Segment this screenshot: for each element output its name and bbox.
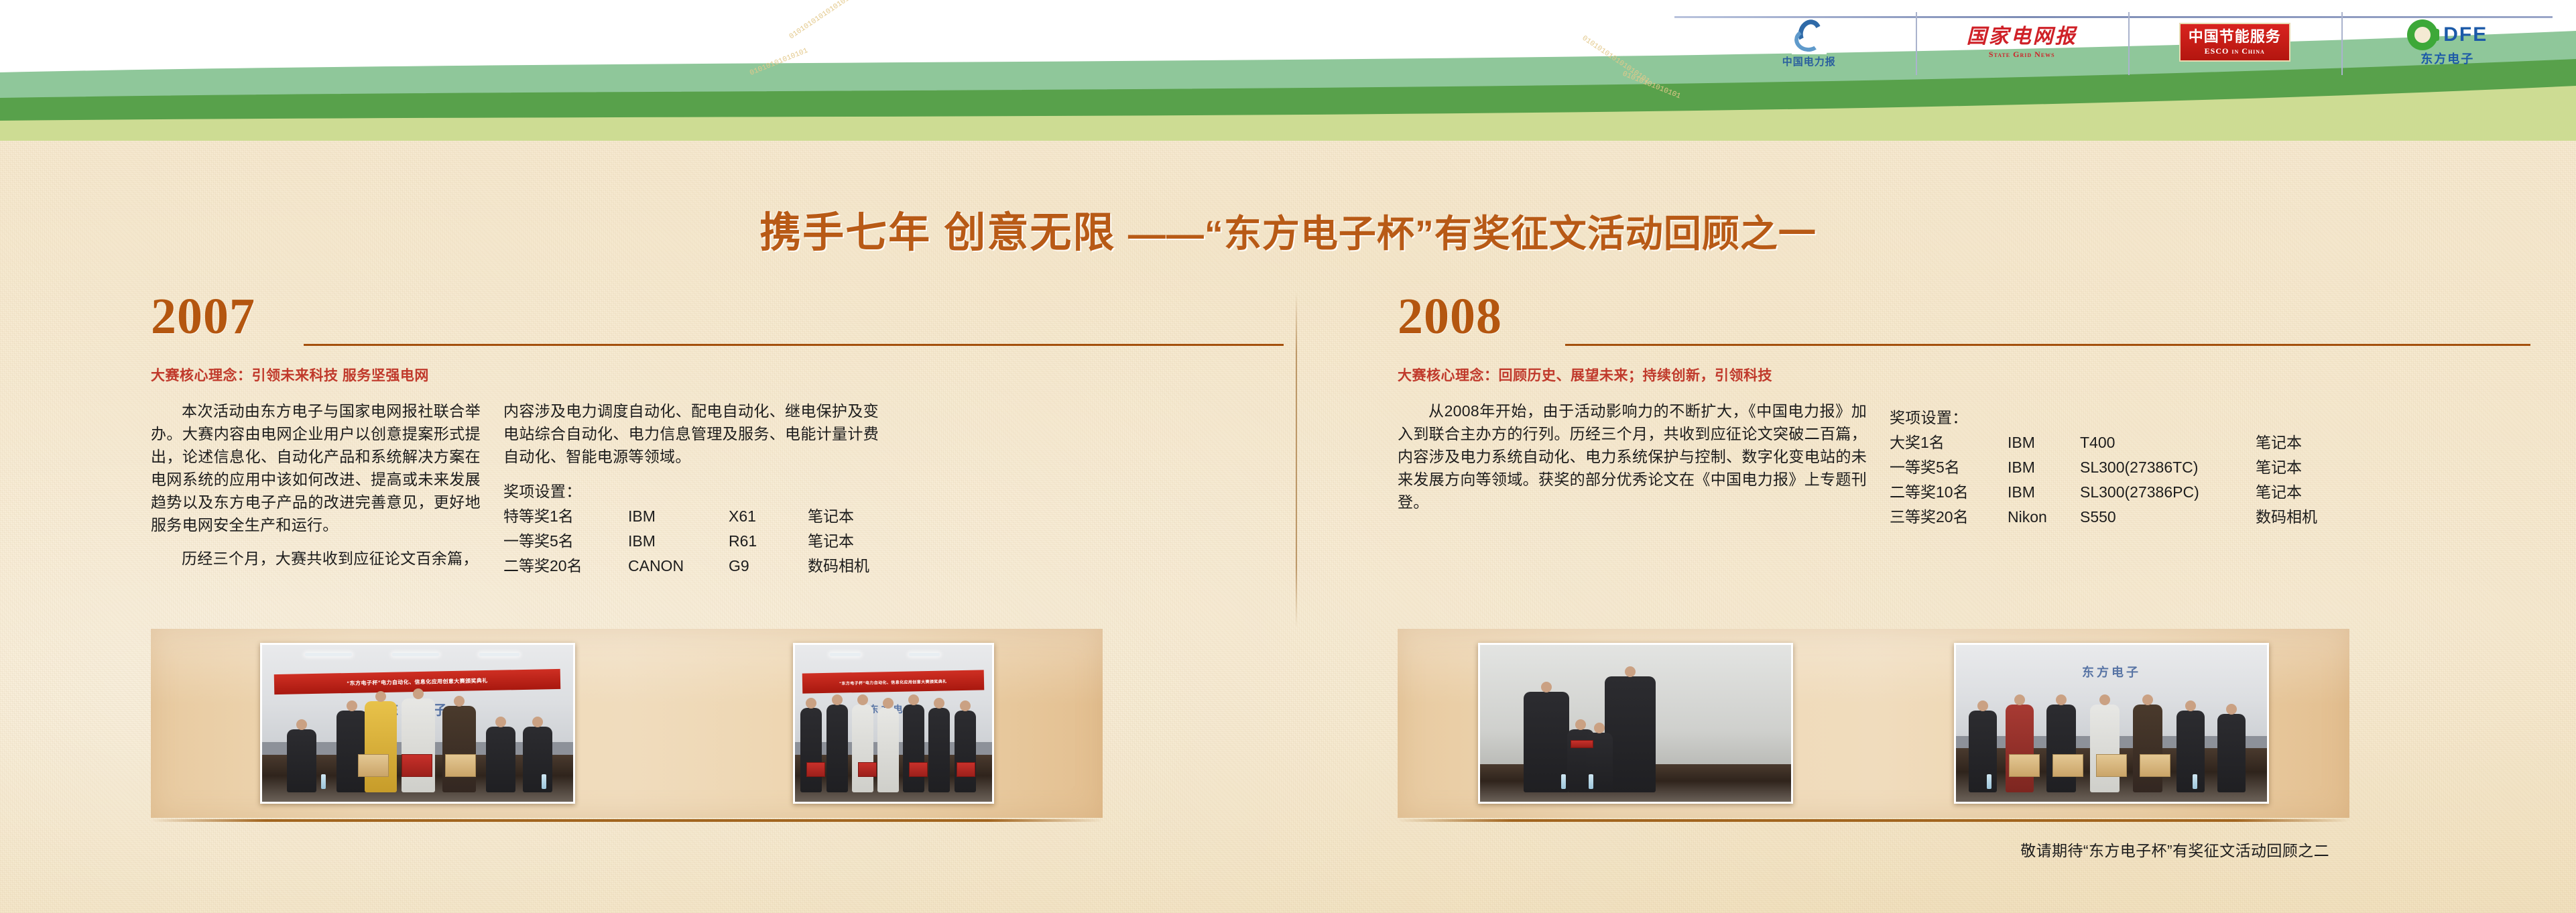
table-row: 特等奖1名 IBM X61 笔记本 [503, 504, 869, 529]
awards-list-2008: 奖项设置： 大奖1名 IBM T400 笔记本 一等奖5名 IBM [1890, 405, 2359, 530]
section-2007-right-column: 内容涉及电力调度自动化、配电自动化、继电保护及变电站综合自动化、电力信息管理及服… [503, 400, 879, 581]
logo-label-cn: 中国节能服务 [2189, 29, 2281, 44]
logo-esco-in-china: 中国节能服务 ESCO in China [2128, 5, 2341, 79]
footer-note: 敬请期待“东方电子杯”有奖征文活动回顾之二 [1398, 838, 2349, 861]
section-tagline: 大赛核心理念：引领未来科技 服务坚强电网 [151, 365, 1284, 385]
section-2007-body: 本次活动由东方电子与国家电网报社联合举办。大赛内容由电网企业用户以创意提案形式提… [151, 400, 1284, 581]
china-electric-power-news-icon [1792, 18, 1827, 54]
award-model: T400 [2080, 430, 2256, 455]
award-model: X61 [729, 504, 808, 529]
esco-logo-box: 中国节能服务 ESCO in China [2179, 23, 2290, 62]
award-model: SL300(27386PC) [2080, 480, 2256, 505]
table-row: 大奖1名 IBM T400 笔记本 [1890, 430, 2317, 455]
dfe-circle-icon [2407, 19, 2438, 50]
section-year-label: 2008 [1398, 288, 1502, 345]
section-body-text: 本次活动由东方电子与国家电网报社联合举办。大赛内容由电网企业用户以创意提案形式提… [151, 400, 481, 570]
award-prize: 笔记本 [808, 529, 869, 554]
section-header-rule [304, 344, 1284, 346]
table-row: 一等奖5名 IBM SL300(27386TC) 笔记本 [1890, 455, 2317, 480]
table-row: 二等奖10名 IBM SL300(27386PC) 笔记本 [1890, 480, 2317, 505]
photo-banner-text: “东方电子杯”电力自动化、信息化应用创意大赛颁奖典礼 [802, 670, 984, 694]
award-prize: 笔记本 [2256, 430, 2317, 455]
section-divider [1296, 292, 1297, 627]
section-2008-right-column: 奖项设置： 大奖1名 IBM T400 笔记本 一等奖5名 IBM [1890, 400, 2359, 530]
logo-label-cn: 东方电子 [2407, 53, 2488, 65]
section-2007: 2007 大赛核心理念：引领未来科技 服务坚强电网 本次活动由东方电子与国家电网… [151, 288, 1284, 581]
section-body-text-continued: 内容涉及电力调度自动化、配电自动化、继电保护及变电站综合自动化、电力信息管理及服… [503, 400, 879, 468]
award-brand: IBM [2008, 455, 2080, 480]
photo-wall-brand: 东方电子 [2012, 654, 2211, 688]
award-ceremony-photo-2008-b: 东方电子 [1954, 643, 2269, 804]
logo-china-electric-power-news: 中国电力报 [1703, 5, 1916, 79]
section-2007-header: 2007 [151, 288, 1284, 355]
award-rank: 一等奖5名 [503, 529, 628, 554]
award-brand: Nikon [2008, 505, 2080, 530]
section-year-label: 2007 [151, 288, 255, 345]
award-model: G9 [729, 554, 808, 579]
poster-canvas: 010101010101010101 01010101010101 010101… [0, 0, 2576, 913]
award-model: R61 [729, 529, 808, 554]
logo-label-en: State Grid News [1967, 50, 2077, 58]
award-rank: 大奖1名 [1890, 430, 2008, 455]
section-2008: 2008 大赛核心理念：回顾历史、展望未来；持续创新，引领科技 从2008年开始… [1398, 288, 2530, 530]
award-brand: IBM [628, 504, 729, 529]
page-title-main: 携手七年 创意无限 [759, 198, 1115, 259]
logo-state-grid-news: 国家电网报 State Grid News [1916, 5, 2129, 79]
logo-label-en: DFE [2443, 25, 2488, 45]
award-rank: 三等奖20名 [1890, 505, 2008, 530]
page-title-subtitle: ——“东方电子杯”有奖征文活动回顾之一 [1128, 204, 1817, 258]
award-ceremony-photo-2007-b: “东方电子杯”电力自动化、信息化应用创意大赛颁奖典礼 东方电子 [793, 643, 994, 804]
award-prize: 笔记本 [2256, 455, 2317, 480]
awards-table: 特等奖1名 IBM X61 笔记本 一等奖5名 IBM R61 笔记本 [503, 504, 869, 579]
award-brand: IBM [2008, 480, 2080, 505]
table-row: 三等奖20名 Nikon S550 数码相机 [1890, 505, 2317, 530]
awards-list-2007: 奖项设置： 特等奖1名 IBM X61 笔记本 一等奖5名 IBM [503, 479, 879, 579]
awards-title: 奖项设置： [503, 479, 879, 501]
photo-panel-2008: 东方电子 [1398, 629, 2349, 818]
partner-logo-bar: 中国电力报 国家电网报 State Grid News 中国节能服务 ESCO … [1703, 5, 2554, 79]
section-2008-body: 从2008年开始，由于活动影响力的不断扩大，《中国电力报》加入到联合主办方的行列… [1398, 400, 2530, 530]
paragraph: 历经三个月，大赛共收到应征论文百余篇， [151, 547, 481, 570]
logo-label-cn: 中国电力报 [1782, 57, 1836, 67]
paragraph: 本次活动由东方电子与国家电网报社联合举办。大赛内容由电网企业用户以创意提案形式提… [151, 400, 481, 536]
section-2008-header: 2008 [1398, 288, 2530, 355]
award-brand: IBM [2008, 430, 2080, 455]
award-rank: 二等奖10名 [1890, 480, 2008, 505]
section-2007-left-column: 本次活动由东方电子与国家电网报社联合举办。大赛内容由电网企业用户以创意提案形式提… [151, 400, 481, 581]
award-prize: 数码相机 [2256, 505, 2317, 530]
paragraph: 内容涉及电力调度自动化、配电自动化、继电保护及变电站综合自动化、电力信息管理及服… [503, 400, 879, 468]
awards-table: 大奖1名 IBM T400 笔记本 一等奖5名 IBM SL300(27386T… [1890, 430, 2317, 530]
section-body-text: 从2008年开始，由于活动影响力的不断扩大，《中国电力报》加入到联合主办方的行列… [1398, 400, 1867, 513]
award-brand: CANON [628, 554, 729, 579]
award-prize: 笔记本 [2256, 480, 2317, 505]
logo-label-en: ESCO in China [2189, 47, 2281, 55]
award-prize: 数码相机 [808, 554, 869, 579]
award-brand: IBM [628, 529, 729, 554]
table-row: 二等奖20名 CANON G9 数码相机 [503, 554, 869, 579]
section-2008-left-column: 从2008年开始，由于活动影响力的不断扩大，《中国电力报》加入到联合主办方的行列… [1398, 400, 1867, 530]
section-tagline: 大赛核心理念：回顾历史、展望未来；持续创新，引领科技 [1398, 365, 2530, 385]
award-ceremony-photo-2007-a: “东方电子杯”电力自动化、信息化应用创意大赛颁奖典礼 东方电子 [260, 643, 575, 804]
award-rank: 二等奖20名 [503, 554, 628, 579]
photo-panel-underline-2008 [1398, 819, 2349, 822]
award-model: S550 [2080, 505, 2256, 530]
section-header-rule [1565, 344, 2530, 346]
award-model: SL300(27386TC) [2080, 455, 2256, 480]
award-ceremony-photo-2008-a [1478, 643, 1793, 804]
award-prize: 笔记本 [808, 504, 869, 529]
logo-label-cn: 国家电网报 [1967, 27, 2077, 47]
table-row: 一等奖5名 IBM R61 笔记本 [503, 529, 869, 554]
photo-panel-2007: “东方电子杯”电力自动化、信息化应用创意大赛颁奖典礼 东方电子 [151, 629, 1103, 818]
awards-title: 奖项设置： [1890, 405, 2359, 428]
photo-panel-underline-2007 [151, 819, 1103, 822]
award-rank: 一等奖5名 [1890, 455, 2008, 480]
paragraph: 从2008年开始，由于活动影响力的不断扩大，《中国电力报》加入到联合主办方的行列… [1398, 400, 1867, 513]
logo-dongfang-electronics: DFE 东方电子 [2341, 5, 2555, 79]
page-title: 携手七年 创意无限 ——“东方电子杯”有奖征文活动回顾之一 [0, 198, 2576, 259]
award-rank: 特等奖1名 [503, 504, 628, 529]
